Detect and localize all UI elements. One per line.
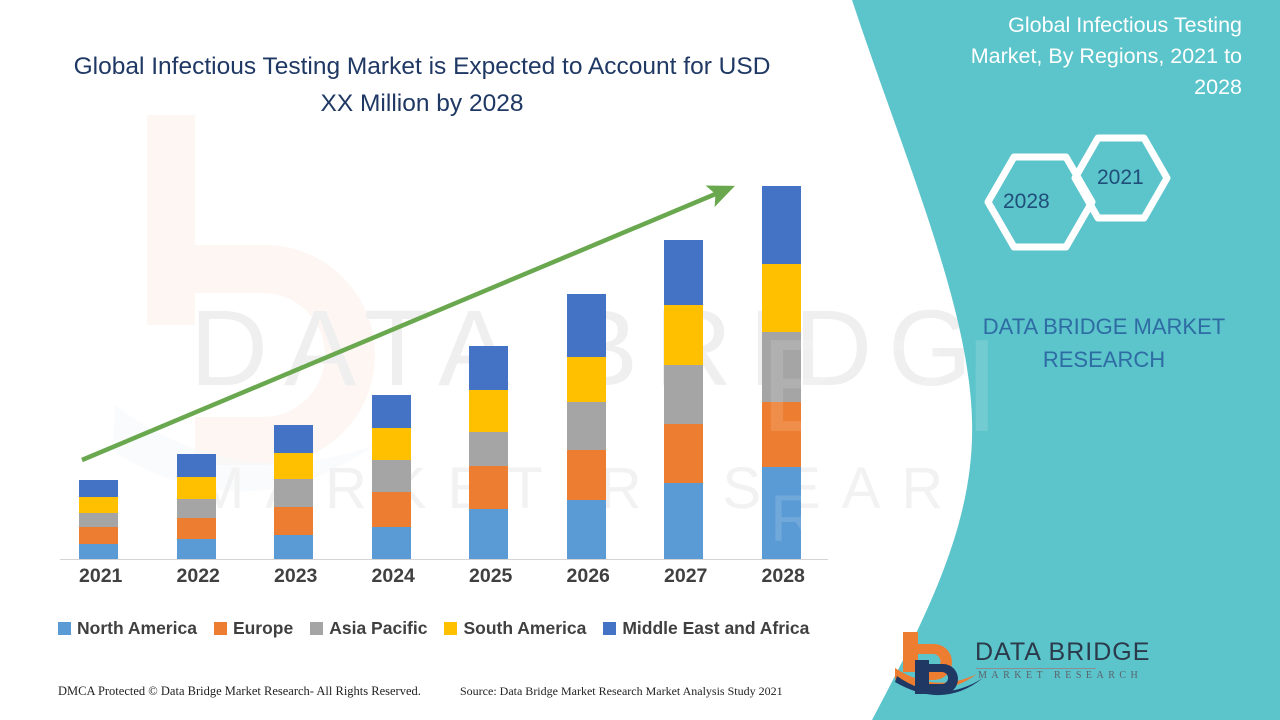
bar-segment <box>79 544 118 559</box>
bar-segment <box>274 479 313 507</box>
bar-chart: 20212022202320242025202620272028 <box>60 150 830 560</box>
bar-segment <box>762 402 801 467</box>
poster-canvas: DATA BRIDGE MARKET RESEARCH Global Infec… <box>0 0 1280 720</box>
x-axis-tick-labels: 20212022202320242025202620272028 <box>60 565 828 595</box>
bar-stack-2026 <box>567 294 606 559</box>
x-tick-2026: 2026 <box>567 565 606 588</box>
bar-segment <box>567 294 606 357</box>
x-tick-2022: 2022 <box>177 565 216 588</box>
bar-segment <box>469 466 508 509</box>
bar-segment <box>762 467 801 559</box>
bar-stack-2022 <box>177 454 216 559</box>
bar-segment <box>372 492 411 527</box>
bar-segment <box>567 500 606 559</box>
footer-source: Source: Data Bridge Market Research Mark… <box>460 684 783 699</box>
logo-divider <box>976 668 1096 669</box>
legend-label: Asia Pacific <box>329 618 427 639</box>
bar-segment <box>664 305 703 365</box>
bar-segment <box>177 499 216 518</box>
bar-segment <box>664 424 703 483</box>
bar-segment <box>762 332 801 402</box>
legend-item[interactable]: Europe <box>214 618 293 639</box>
bar-segment <box>664 240 703 305</box>
panel-title: Global Infectious Testing Market, By Reg… <box>952 10 1242 103</box>
logo-secondary-text: MARKET RESEARCH <box>978 670 1142 681</box>
hexagon-2021-label: 2021 <box>1097 166 1144 190</box>
legend-swatch-icon <box>58 622 71 635</box>
bar-stack-2021 <box>79 480 118 559</box>
bar-segment <box>79 497 118 513</box>
legend-label: Middle East and Africa <box>622 618 809 639</box>
hexagon-badges: 2028 2021 <box>975 130 1185 280</box>
bar-segment <box>372 460 411 492</box>
footer-copyright: DMCA Protected © Data Bridge Market Rese… <box>58 684 421 699</box>
x-tick-2021: 2021 <box>79 565 118 588</box>
bar-stack-2023 <box>274 425 313 559</box>
bar-segment <box>79 513 118 527</box>
bar-segment <box>469 346 508 390</box>
bar-segment <box>664 483 703 559</box>
bar-segment <box>567 450 606 500</box>
x-tick-2023: 2023 <box>274 565 313 588</box>
bar-segment <box>664 365 703 424</box>
bar-segment <box>177 454 216 477</box>
legend-swatch-icon <box>310 622 323 635</box>
legend-swatch-icon <box>444 622 457 635</box>
bar-stack-2027 <box>664 240 703 559</box>
logo-primary-text: DATA BRIDGE <box>975 638 1150 667</box>
legend-label: North America <box>77 618 197 639</box>
bar-segment <box>274 453 313 479</box>
legend-label: South America <box>463 618 586 639</box>
legend-item[interactable]: Middle East and Africa <box>603 618 809 639</box>
bar-segment <box>79 480 118 497</box>
legend-item[interactable]: Asia Pacific <box>310 618 427 639</box>
bar-segment <box>177 539 216 559</box>
legend-item[interactable]: North America <box>58 618 197 639</box>
bar-segment <box>469 509 508 559</box>
bar-segment <box>372 527 411 559</box>
bar-segment <box>762 264 801 332</box>
x-tick-2027: 2027 <box>664 565 703 588</box>
x-axis-line <box>60 559 828 560</box>
legend-item[interactable]: South America <box>444 618 586 639</box>
bar-stack-2025 <box>469 346 508 559</box>
legend-label: Europe <box>233 618 293 639</box>
bar-segment <box>567 402 606 450</box>
bar-stack-2024 <box>372 395 411 559</box>
bar-segment <box>762 186 801 264</box>
hexagon-2028-label: 2028 <box>1003 190 1050 214</box>
bar-segment <box>469 390 508 432</box>
bar-stack-2028 <box>762 186 801 559</box>
bar-segment <box>177 477 216 499</box>
x-tick-2024: 2024 <box>372 565 411 588</box>
bar-segment <box>274 425 313 453</box>
x-tick-2025: 2025 <box>469 565 508 588</box>
panel-brand-text: DATA BRIDGE MARKET RESEARCH <box>964 310 1244 376</box>
legend-swatch-icon <box>603 622 616 635</box>
bar-segment <box>469 432 508 466</box>
bar-segment <box>274 507 313 535</box>
bar-segment <box>177 518 216 539</box>
bar-segment <box>372 395 411 428</box>
bar-segment <box>79 527 118 544</box>
legend-swatch-icon <box>214 622 227 635</box>
bar-segment <box>372 428 411 460</box>
bar-segment <box>274 535 313 559</box>
chart-legend: North AmericaEuropeAsia PacificSouth Ame… <box>58 616 833 640</box>
bar-segment <box>567 357 606 402</box>
bar-series-container <box>60 150 828 559</box>
chart-title: Global Infectious Testing Market is Expe… <box>62 48 782 122</box>
x-tick-2028: 2028 <box>762 565 801 588</box>
